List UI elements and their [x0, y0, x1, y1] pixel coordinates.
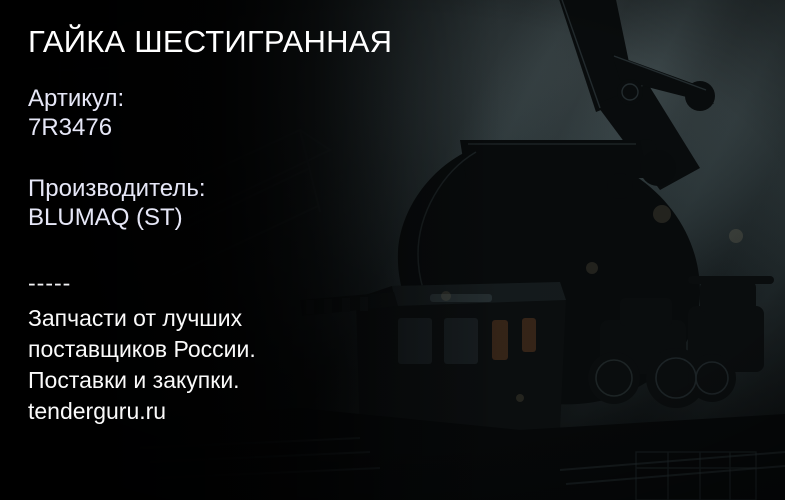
manufacturer-label: Производитель:	[28, 174, 206, 203]
text-divider: -----	[28, 272, 71, 295]
tagline-line-3: Поставки и закупки.	[28, 365, 256, 396]
tagline-line-2: поставщиков России.	[28, 334, 256, 365]
article-field: Артикул: 7R3476	[28, 84, 124, 142]
product-banner: ГАЙКА ШЕСТИГРАННАЯ Артикул: 7R3476 Произ…	[0, 0, 785, 500]
article-label: Артикул:	[28, 84, 124, 113]
banner-content: ГАЙКА ШЕСТИГРАННАЯ Артикул: 7R3476 Произ…	[28, 0, 548, 500]
tagline-line-1: Запчасти от лучших	[28, 303, 256, 334]
manufacturer-value: BLUMAQ (ST)	[28, 203, 206, 232]
tagline-block: Запчасти от лучших поставщиков России. П…	[28, 303, 256, 427]
article-value: 7R3476	[28, 113, 124, 142]
manufacturer-field: Производитель: BLUMAQ (ST)	[28, 174, 206, 232]
product-title: ГАЙКА ШЕСТИГРАННАЯ	[28, 26, 392, 59]
website-link[interactable]: tenderguru.ru	[28, 396, 256, 427]
